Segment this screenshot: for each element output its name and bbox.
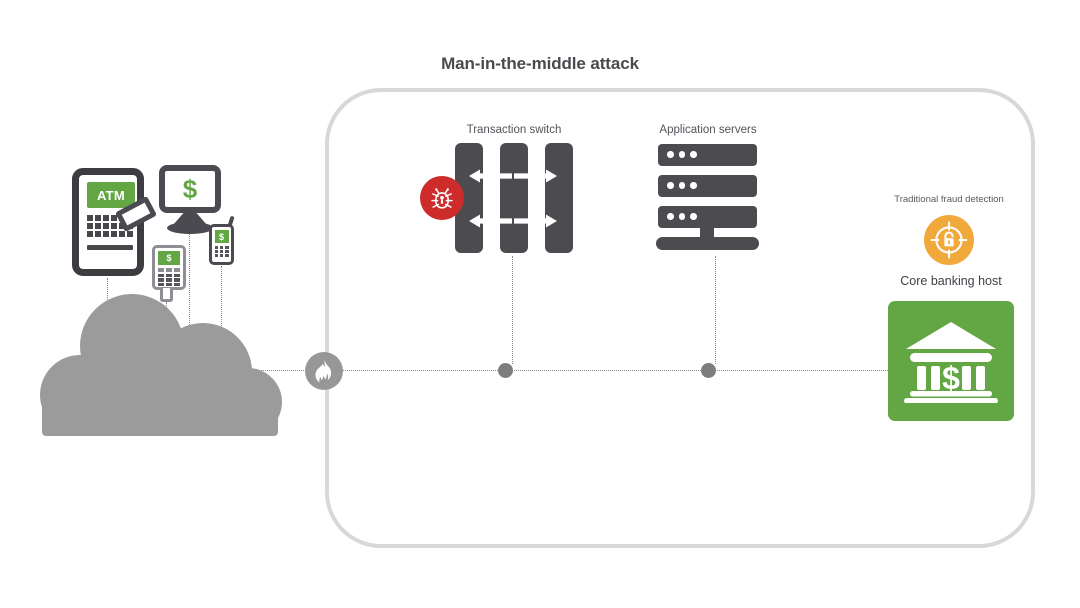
arrow-right-bottom-icon: [514, 214, 536, 228]
core-banking-host-label: Core banking host: [881, 274, 1021, 288]
application-servers-node[interactable]: [656, 144, 759, 252]
arrow-left-bottom-icon: [469, 214, 491, 228]
server-indicator-lights: [667, 151, 697, 158]
mobile-phone[interactable]: $: [209, 224, 234, 265]
phone-currency-symbol: $: [215, 230, 229, 243]
server-stand-base: [656, 237, 759, 250]
monitor-base: [167, 222, 213, 234]
firewall-badge[interactable]: [305, 352, 343, 390]
pos-terminal-base: [160, 288, 173, 302]
arrow-left-top-icon: [469, 169, 491, 183]
phone-keypad: [215, 246, 229, 257]
server-indicator-lights: [667, 182, 697, 189]
server-indicator-lights: [667, 213, 697, 220]
diagram-canvas: Man-in-the-middle attack ATM: [0, 0, 1080, 608]
server-unit-2: [658, 175, 757, 197]
desktop-monitor[interactable]: $: [159, 165, 221, 213]
connector-servers-drop: [715, 256, 716, 364]
junction-application-servers: [701, 363, 716, 378]
switch-blade-3: [545, 143, 573, 253]
atm-screen-label: ATM: [87, 182, 135, 208]
connector-firewall-to-switch: [340, 370, 512, 371]
server-unit-1: [658, 144, 757, 166]
bug-icon: [428, 184, 456, 212]
pos-terminal[interactable]: $: [152, 245, 186, 290]
connector-servers-to-bank: [708, 370, 890, 371]
cloud-icon: [40, 294, 285, 442]
server-unit-3: [658, 206, 757, 228]
fraud-detection-badge[interactable]: [924, 215, 974, 265]
connector-switch-to-servers: [505, 370, 715, 371]
atm-card-slot: [87, 245, 133, 250]
junction-transaction-switch: [498, 363, 513, 378]
malware-bug-badge[interactable]: [420, 176, 464, 220]
svg-text:$: $: [942, 360, 960, 396]
transaction-switch-label: Transaction switch: [455, 124, 573, 136]
page-title: Man-in-the-middle attack: [0, 54, 1080, 74]
pos-keypad: [158, 274, 180, 286]
transaction-switch-node[interactable]: [455, 143, 573, 253]
fraud-detection-label: Traditional fraud detection: [869, 194, 1029, 205]
arrow-right-top-icon: [514, 169, 536, 183]
monitor-currency-symbol: $: [183, 176, 197, 202]
pos-currency-symbol: $: [158, 251, 180, 265]
crosshair-lock-icon: [928, 219, 970, 261]
application-servers-label: Application servers: [646, 124, 770, 136]
flame-icon: [313, 359, 335, 383]
pos-function-keys: [158, 268, 180, 272]
bank-building-icon: $: [903, 319, 999, 403]
connector-switch-drop: [512, 256, 513, 364]
switch-blade-2: [500, 143, 528, 253]
core-banking-host-node[interactable]: $: [888, 301, 1014, 421]
